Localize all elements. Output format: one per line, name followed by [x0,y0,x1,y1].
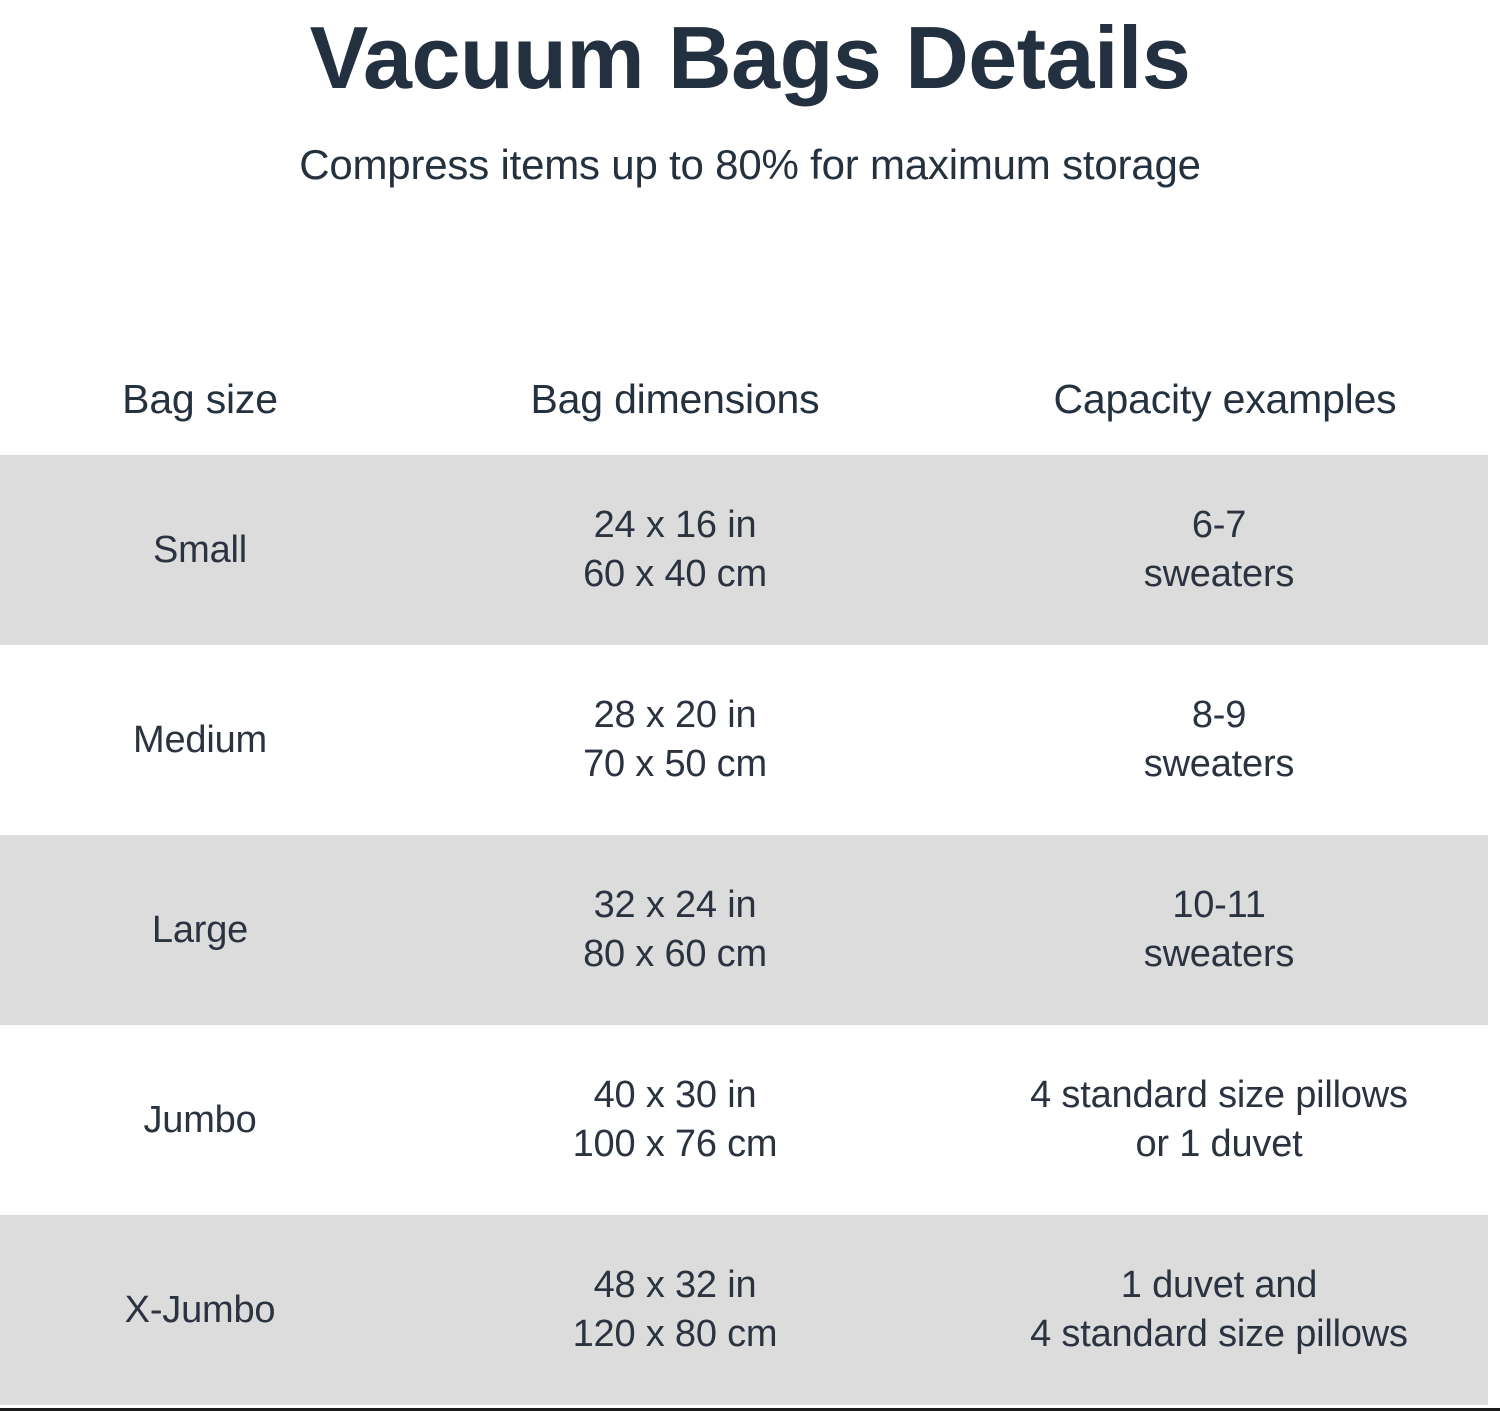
cell-bag-size: Medium [0,716,400,765]
table-row: Large 32 x 24 in 80 x 60 cm 10-11 sweate… [0,835,1488,1025]
dimensions-inches: 24 x 16 in [400,501,950,550]
capacity-line-2: sweaters [950,930,1488,979]
cell-capacity-examples: 1 duvet and 4 standard size pillows [950,1261,1488,1358]
dimensions-inches: 48 x 32 in [400,1261,950,1310]
capacity-line-1: 1 duvet and [950,1261,1488,1310]
cell-capacity-examples: 4 standard size pillows or 1 duvet [950,1071,1488,1168]
header-block: Vacuum Bags Details Compress items up to… [0,0,1500,190]
cell-bag-size: Jumbo [0,1096,400,1145]
column-header-capacity-examples: Capacity examples [950,362,1500,420]
dimensions-centimeters: 80 x 60 cm [400,930,950,979]
capacity-line-1: 4 standard size pillows [950,1071,1488,1120]
dimensions-centimeters: 60 x 40 cm [400,550,950,599]
dimensions-centimeters: 70 x 50 cm [400,740,950,789]
dimensions-centimeters: 120 x 80 cm [400,1310,950,1359]
table-row: X-Jumbo 48 x 32 in 120 x 80 cm 1 duvet a… [0,1215,1488,1405]
capacity-line-2: sweaters [950,550,1488,599]
capacity-line-1: 6-7 [950,501,1488,550]
dimensions-inches: 40 x 30 in [400,1071,950,1120]
cell-bag-size: Large [0,906,400,955]
cell-bag-dimensions: 32 x 24 in 80 x 60 cm [400,881,950,978]
cell-capacity-examples: 8-9 sweaters [950,691,1488,788]
table-header-row: Bag size Bag dimensions Capacity example… [0,362,1500,455]
column-header-bag-dimensions: Bag dimensions [400,362,950,420]
table-row: Jumbo 40 x 30 in 100 x 76 cm 4 standard … [0,1025,1488,1215]
page-subtitle: Compress items up to 80% for maximum sto… [0,104,1500,190]
dimensions-inches: 32 x 24 in [400,881,950,930]
table-row: Small 24 x 16 in 60 x 40 cm 6-7 sweaters [0,455,1488,645]
cell-capacity-examples: 6-7 sweaters [950,501,1488,598]
cell-bag-size: Small [0,526,400,575]
dimensions-inches: 28 x 20 in [400,691,950,740]
cell-bag-dimensions: 40 x 30 in 100 x 76 cm [400,1071,950,1168]
cell-capacity-examples: 10-11 sweaters [950,881,1488,978]
cell-bag-size: X-Jumbo [0,1286,400,1335]
capacity-line-1: 10-11 [950,881,1488,930]
capacity-line-2: or 1 duvet [950,1120,1488,1169]
capacity-line-2: 4 standard size pillows [950,1310,1488,1359]
dimensions-centimeters: 100 x 76 cm [400,1120,950,1169]
page-title: Vacuum Bags Details [0,6,1500,104]
column-header-bag-size: Bag size [0,362,400,420]
bag-specs-table: Bag size Bag dimensions Capacity example… [0,362,1500,1405]
capacity-line-1: 8-9 [950,691,1488,740]
table-row: Medium 28 x 20 in 70 x 50 cm 8-9 sweater… [0,645,1488,835]
capacity-line-2: sweaters [950,740,1488,789]
vacuum-bags-details-page: Vacuum Bags Details Compress items up to… [0,0,1500,1411]
cell-bag-dimensions: 24 x 16 in 60 x 40 cm [400,501,950,598]
cell-bag-dimensions: 48 x 32 in 120 x 80 cm [400,1261,950,1358]
cell-bag-dimensions: 28 x 20 in 70 x 50 cm [400,691,950,788]
